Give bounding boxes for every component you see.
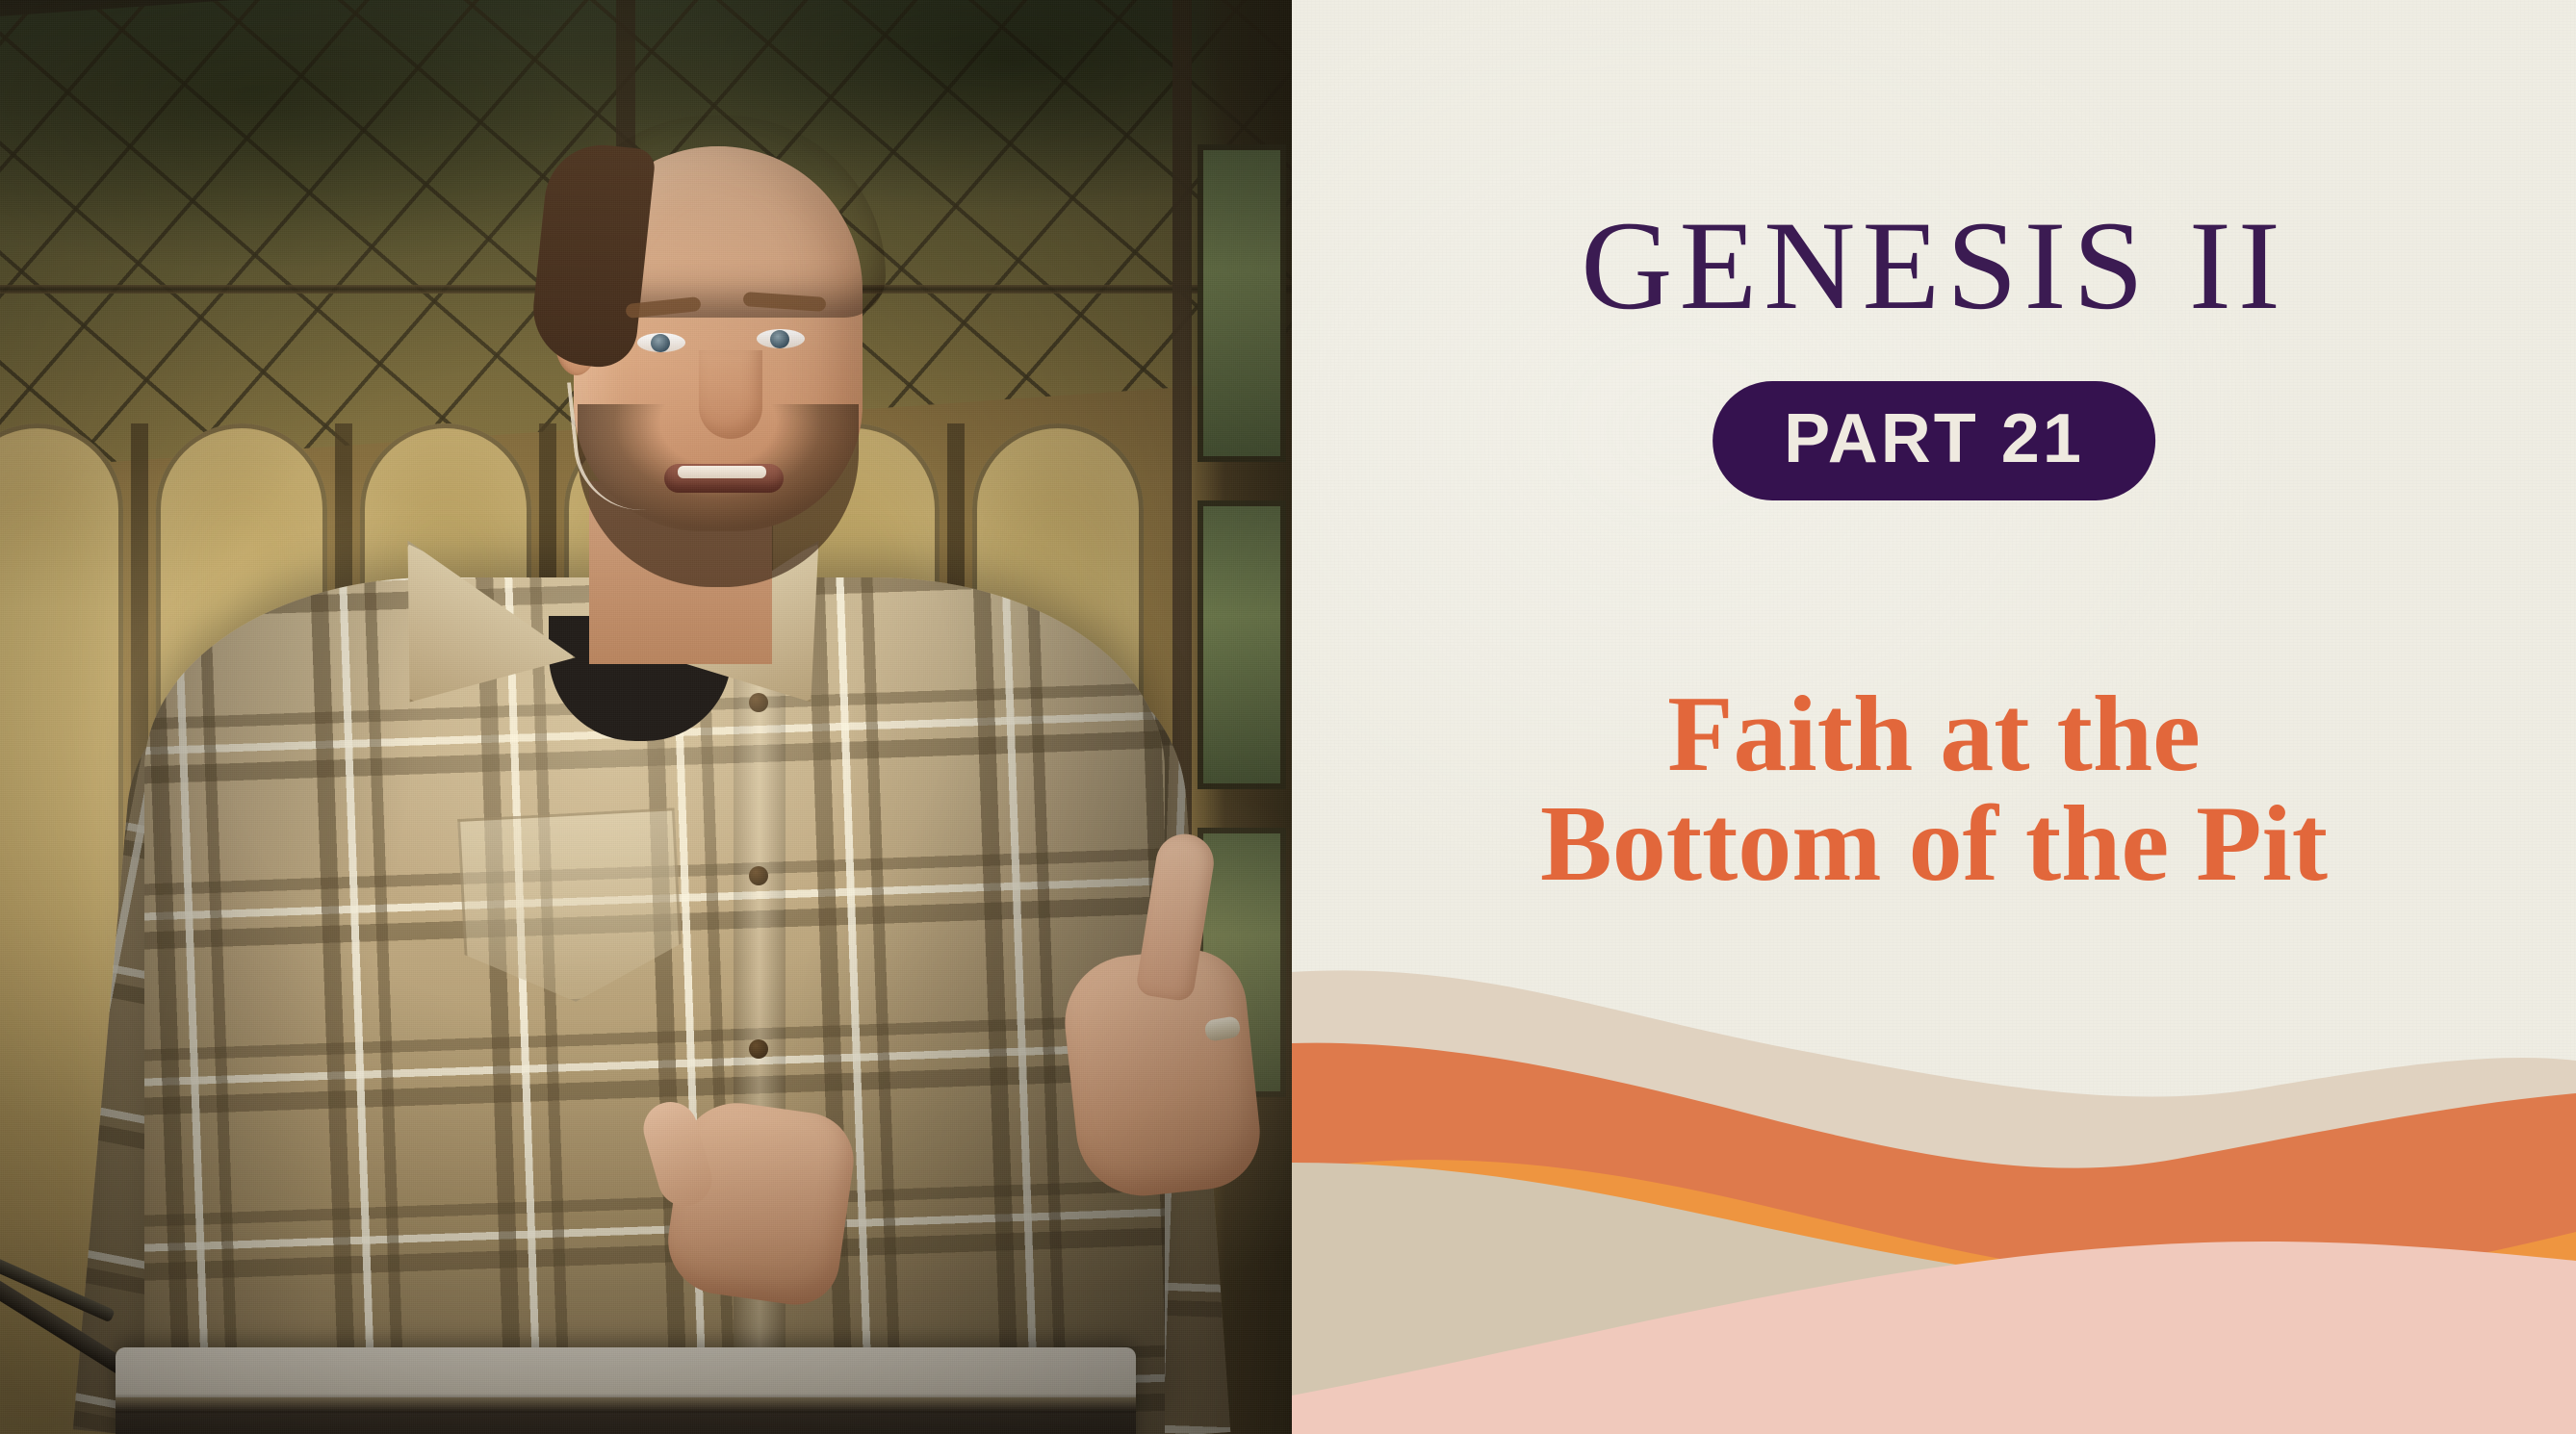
speaker-eye (757, 329, 805, 348)
series-title: GENESIS II (1292, 202, 2576, 329)
podium-edge (116, 1397, 1136, 1413)
decorative-wave-graphic (1292, 943, 2576, 1434)
speaker-teeth (678, 466, 766, 478)
part-number-badge: PART 21 (1713, 381, 2155, 500)
speaker-eye (637, 333, 685, 352)
video-thumbnail: GENESIS II PART 21 Faith at the Bottom o… (0, 0, 2576, 1434)
speaker-photo (0, 0, 1292, 1434)
speaker-figure (0, 0, 1292, 1434)
speaker-nose (699, 350, 762, 439)
headset-microphone (567, 372, 677, 517)
sermon-title-line-2: Bottom of the Pit (1325, 789, 2543, 899)
title-card: GENESIS II PART 21 Faith at the Bottom o… (1292, 0, 2576, 1434)
sermon-title: Faith at the Bottom of the Pit (1292, 679, 2576, 899)
sermon-title-line-1: Faith at the (1325, 679, 2543, 789)
podium (116, 1347, 1136, 1434)
